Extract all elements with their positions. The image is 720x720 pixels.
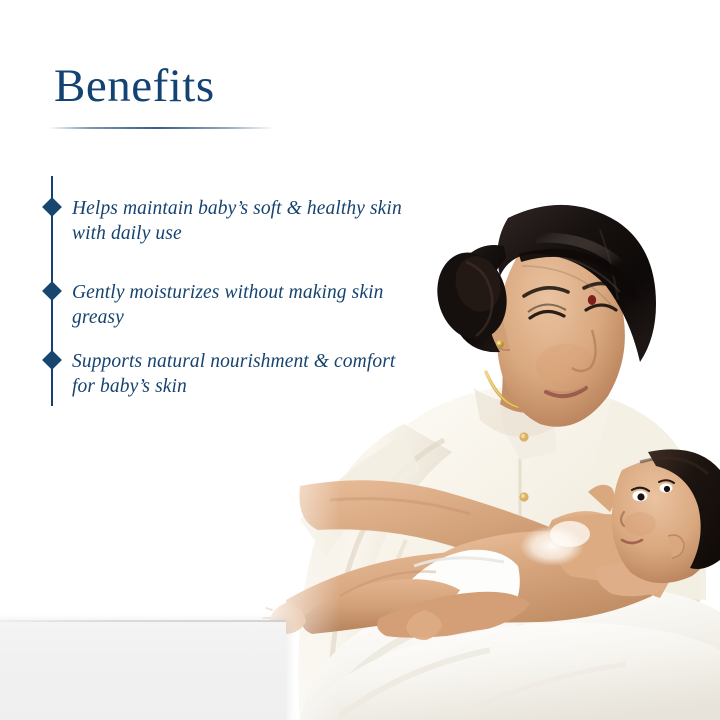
benefit-text-1: Helps maintain baby’s soft & healthy ski… — [72, 196, 402, 246]
benefits-list: Helps maintain baby’s soft & healthy ski… — [0, 0, 420, 460]
benefit-text-2: Gently moisturizes without making skin g… — [72, 280, 402, 330]
benefits-card: Benefits Helps maintain baby’s soft & he… — [0, 0, 720, 720]
benefit-text-3: Supports natural nourishment & comfort f… — [72, 349, 402, 399]
diamond-bullet-icon — [42, 350, 62, 370]
diamond-bullet-icon — [42, 197, 62, 217]
diamond-bullet-icon — [42, 281, 62, 301]
content-layer: Benefits Helps maintain baby’s soft & he… — [0, 0, 720, 720]
